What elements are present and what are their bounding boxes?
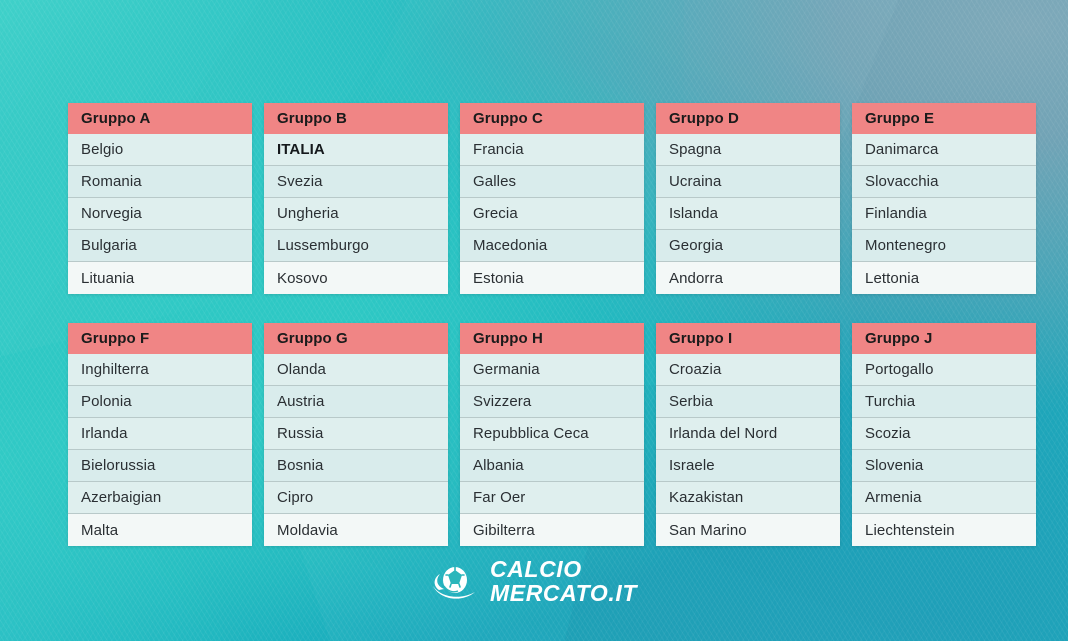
team-row: Slovenia <box>852 450 1036 482</box>
team-row: Liechtenstein <box>852 514 1036 546</box>
team-row: Lituania <box>68 262 252 294</box>
team-row: Israele <box>656 450 840 482</box>
group-card: Gruppo EDanimarcaSlovacchiaFinlandiaMont… <box>852 103 1036 294</box>
group-card: Gruppo ICroaziaSerbiaIrlanda del NordIsr… <box>656 323 840 546</box>
groups-row: Gruppo ABelgioRomaniaNorvegiaBulgariaLit… <box>68 103 1000 294</box>
team-row: Spagna <box>656 134 840 166</box>
team-row: Cipro <box>264 482 448 514</box>
team-row: Irlanda <box>68 418 252 450</box>
group-header: Gruppo B <box>264 103 448 134</box>
group-card: Gruppo CFranciaGallesGreciaMacedoniaEsto… <box>460 103 644 294</box>
group-card: Gruppo GOlandaAustriaRussiaBosniaCiproMo… <box>264 323 448 546</box>
team-row: Lettonia <box>852 262 1036 294</box>
group-card: Gruppo ABelgioRomaniaNorvegiaBulgariaLit… <box>68 103 252 294</box>
group-card: Gruppo DSpagnaUcrainaIslandaGeorgiaAndor… <box>656 103 840 294</box>
team-row: Ungheria <box>264 198 448 230</box>
team-row: Bulgaria <box>68 230 252 262</box>
team-row: Far Oer <box>460 482 644 514</box>
team-row: Albania <box>460 450 644 482</box>
team-row: Malta <box>68 514 252 546</box>
team-row: Serbia <box>656 386 840 418</box>
team-row: Azerbaigian <box>68 482 252 514</box>
group-header: Gruppo D <box>656 103 840 134</box>
team-row: Lussemburgo <box>264 230 448 262</box>
group-card: Gruppo FInghilterraPoloniaIrlandaBieloru… <box>68 323 252 546</box>
group-header: Gruppo F <box>68 323 252 354</box>
team-row: Belgio <box>68 134 252 166</box>
group-card: Gruppo JPortogalloTurchiaScoziaSloveniaA… <box>852 323 1036 546</box>
team-row: Andorra <box>656 262 840 294</box>
site-logo[interactable]: CALCIO MERCATO.IT <box>431 556 637 606</box>
team-row: Islanda <box>656 198 840 230</box>
group-header: Gruppo G <box>264 323 448 354</box>
team-row: Polonia <box>68 386 252 418</box>
group-header: Gruppo H <box>460 323 644 354</box>
team-row: Svizzera <box>460 386 644 418</box>
team-row: Kazakistan <box>656 482 840 514</box>
team-row: Gibilterra <box>460 514 644 546</box>
team-row: Kosovo <box>264 262 448 294</box>
team-row: Norvegia <box>68 198 252 230</box>
team-row: Moldavia <box>264 514 448 546</box>
team-row: Austria <box>264 386 448 418</box>
group-header: Gruppo I <box>656 323 840 354</box>
team-row: Estonia <box>460 262 644 294</box>
team-row: Turchia <box>852 386 1036 418</box>
team-row: Scozia <box>852 418 1036 450</box>
team-row: Montenegro <box>852 230 1036 262</box>
team-row: Galles <box>460 166 644 198</box>
team-row: Slovacchia <box>852 166 1036 198</box>
group-header: Gruppo E <box>852 103 1036 134</box>
team-row: San Marino <box>656 514 840 546</box>
team-row: Finlandia <box>852 198 1036 230</box>
team-row: Croazia <box>656 354 840 386</box>
team-row: Francia <box>460 134 644 166</box>
team-row: Georgia <box>656 230 840 262</box>
team-row: Svezia <box>264 166 448 198</box>
team-row: Ucraina <box>656 166 840 198</box>
team-row: Portogallo <box>852 354 1036 386</box>
group-card: Gruppo HGermaniaSvizzeraRepubblica CecaA… <box>460 323 644 546</box>
group-card: Gruppo BITALIASveziaUngheriaLussemburgoK… <box>264 103 448 294</box>
team-row: ITALIA <box>264 134 448 166</box>
team-row: Romania <box>68 166 252 198</box>
groups-row: Gruppo FInghilterraPoloniaIrlandaBieloru… <box>68 323 1000 546</box>
team-row: Armenia <box>852 482 1036 514</box>
team-row: Olanda <box>264 354 448 386</box>
logo-line-1: CALCIO <box>490 558 637 580</box>
team-row: Bosnia <box>264 450 448 482</box>
team-row: Macedonia <box>460 230 644 262</box>
team-row: Inghilterra <box>68 354 252 386</box>
team-row: Danimarca <box>852 134 1036 166</box>
soccer-ball-swoosh-icon <box>431 556 483 606</box>
logo-line-2: MERCATO.IT <box>490 582 637 604</box>
team-row: Germania <box>460 354 644 386</box>
team-row: Grecia <box>460 198 644 230</box>
group-header: Gruppo C <box>460 103 644 134</box>
group-header: Gruppo J <box>852 323 1036 354</box>
group-header: Gruppo A <box>68 103 252 134</box>
team-row: Irlanda del Nord <box>656 418 840 450</box>
team-row: Bielorussia <box>68 450 252 482</box>
team-row: Russia <box>264 418 448 450</box>
groups-board: Gruppo ABelgioRomaniaNorvegiaBulgariaLit… <box>68 103 1000 546</box>
team-row: Repubblica Ceca <box>460 418 644 450</box>
